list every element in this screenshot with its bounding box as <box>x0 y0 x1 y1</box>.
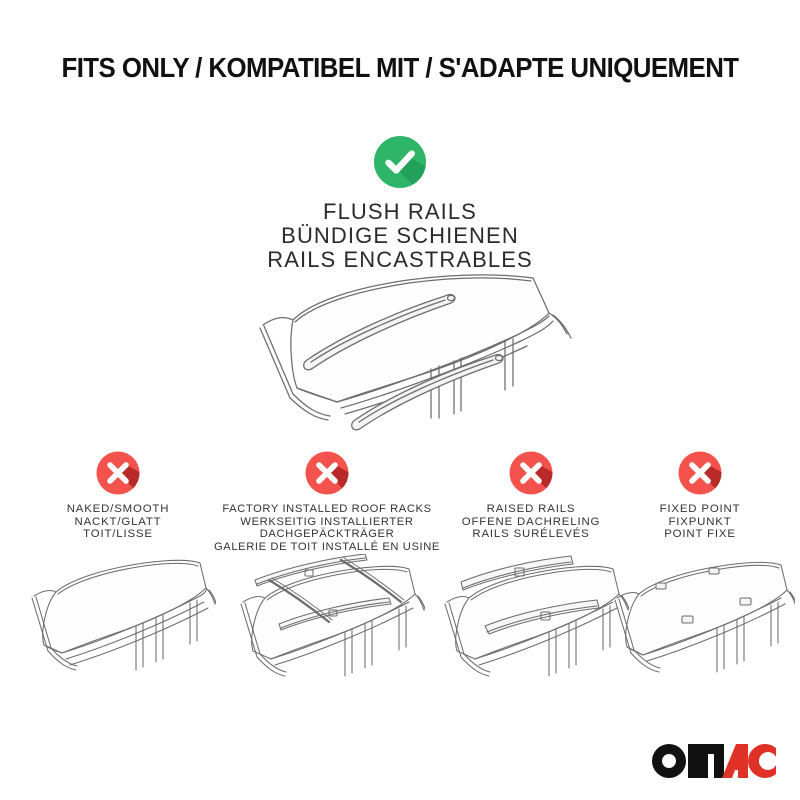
compatible-section: FLUSH RAILS BÜNDIGE SCHIENEN RAILS ENCAS… <box>0 134 800 272</box>
car-roof-fixed-point-illustration <box>605 554 795 689</box>
incompatible-item-raised-rails: RAISED RAILS OFFENE DACHRELING RAILS SUR… <box>428 450 634 541</box>
x-circle-icon <box>677 450 723 496</box>
incompatible-item-naked-smooth: NAKED/SMOOTH NACKT/GLATT TOIT/LISSE <box>8 450 228 541</box>
car-roof-naked-smooth-illustration <box>20 554 216 689</box>
incompatible-item-factory-roof-racks: FACTORY INSTALLED ROOF RACKS WERKSEITIG … <box>205 450 449 553</box>
label-line-1: RAISED RAILS <box>428 503 634 516</box>
label-line-3: POINT FIXE <box>612 528 788 541</box>
label-line-3: TOIT/LISSE <box>8 528 228 541</box>
label-line-2: NACKT/GLATT <box>8 516 228 529</box>
label-line-1: NAKED/SMOOTH <box>8 503 228 516</box>
x-circle-icon <box>304 450 350 496</box>
label-line-2: WERKSEITIG INSTALLIERTER <box>205 516 449 529</box>
x-circle-icon <box>508 450 554 496</box>
car-roof-raised-rails-illustration <box>433 554 629 689</box>
incompatible-item-fixed-point: FIXED POINT FIXPUNKT POINT FIXE <box>612 450 788 541</box>
compatible-label-line-1: FLUSH RAILS <box>0 200 800 224</box>
label-line-2: FIXPUNKT <box>612 516 788 529</box>
page-title: FITS ONLY / KOMPATIBEL MIT / S'ADAPTE UN… <box>24 52 776 84</box>
car-roof-flush-rails-illustration <box>233 268 585 433</box>
incompatible-section: NAKED/SMOOTH NACKT/GLATT TOIT/LISSE <box>0 450 800 690</box>
x-circle-icon <box>95 450 141 496</box>
label-line-4: GALERIE DE TOIT INSTALLÉ EN USINE <box>205 541 449 554</box>
label-line-2: OFFENE DACHRELING <box>428 516 634 529</box>
incompatible-labels: FIXED POINT FIXPUNKT POINT FIXE <box>612 503 788 541</box>
incompatible-labels: RAISED RAILS OFFENE DACHRELING RAILS SUR… <box>428 503 634 541</box>
omac-logo <box>652 744 776 778</box>
car-roof-factory-roof-racks-illustration <box>229 554 425 689</box>
label-line-1: FACTORY INSTALLED ROOF RACKS <box>205 503 449 516</box>
label-line-3: DACHGEPÄCKTRÄGER <box>205 528 449 541</box>
compatible-label-line-2: BÜNDIGE SCHIENEN <box>0 224 800 248</box>
incompatible-labels: NAKED/SMOOTH NACKT/GLATT TOIT/LISSE <box>8 503 228 541</box>
check-circle-icon <box>372 134 428 190</box>
label-line-1: FIXED POINT <box>612 503 788 516</box>
label-line-3: RAILS SURÉLEVÉS <box>428 528 634 541</box>
incompatible-labels: FACTORY INSTALLED ROOF RACKS WERKSEITIG … <box>205 503 449 553</box>
compatible-labels: FLUSH RAILS BÜNDIGE SCHIENEN RAILS ENCAS… <box>0 200 800 272</box>
